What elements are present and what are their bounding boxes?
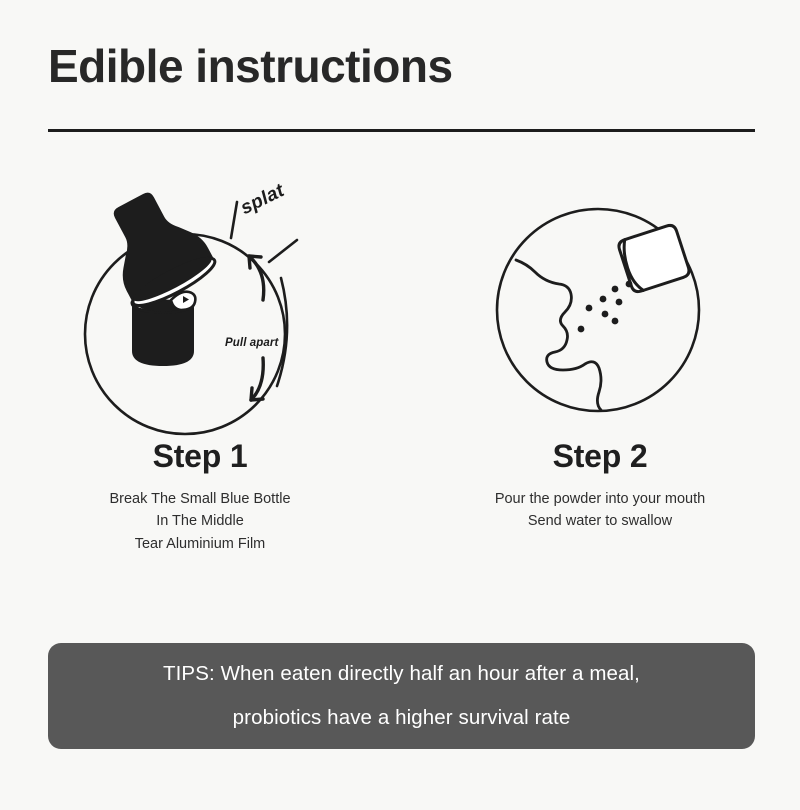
step-2-block: Step 2 Pour the powder into your mouth S… [400,180,800,533]
step-1-line-3: Tear Aluminium Film [109,533,290,555]
instructions-page: Edible instructions [0,0,800,810]
tips-line-2: probiotics have a higher survival rate [233,707,571,729]
step-1-title: Step 1 [153,438,248,475]
tips-line-1: TIPS: When eaten directly half an hour a… [163,663,640,685]
step-1-line-1: Break The Small Blue Bottle [109,488,290,510]
tips-banner: TIPS: When eaten directly half an hour a… [48,643,755,749]
pull-apart-label: Pull apart [225,337,278,349]
step-1-illustration: splat Pull apart [85,180,315,430]
step-2-description: Pour the powder into your mouth Send wat… [495,488,705,533]
step-1-block: splat Pull apart Step 1 Break The Small … [0,180,400,555]
step-1-description: Break The Small Blue Bottle In The Middl… [109,488,290,555]
splat-tick-left [231,202,237,238]
step-2-line-1: Pour the powder into your mouth [495,488,705,510]
bottle-cap [90,179,220,313]
step-2-line-2: Send water to swallow [495,510,705,532]
page-title: Edible instructions [48,42,758,90]
title-divider [48,129,755,132]
step-2-illustration [485,192,715,430]
powder-dots [578,281,633,333]
step-2-title: Step 2 [553,438,648,475]
steps-row: splat Pull apart Step 1 Break The Small … [0,180,800,555]
step-1-line-2: In The Middle [109,510,290,532]
splat-tick-right [269,240,297,262]
header: Edible instructions [48,42,758,90]
face-profile [516,260,601,410]
